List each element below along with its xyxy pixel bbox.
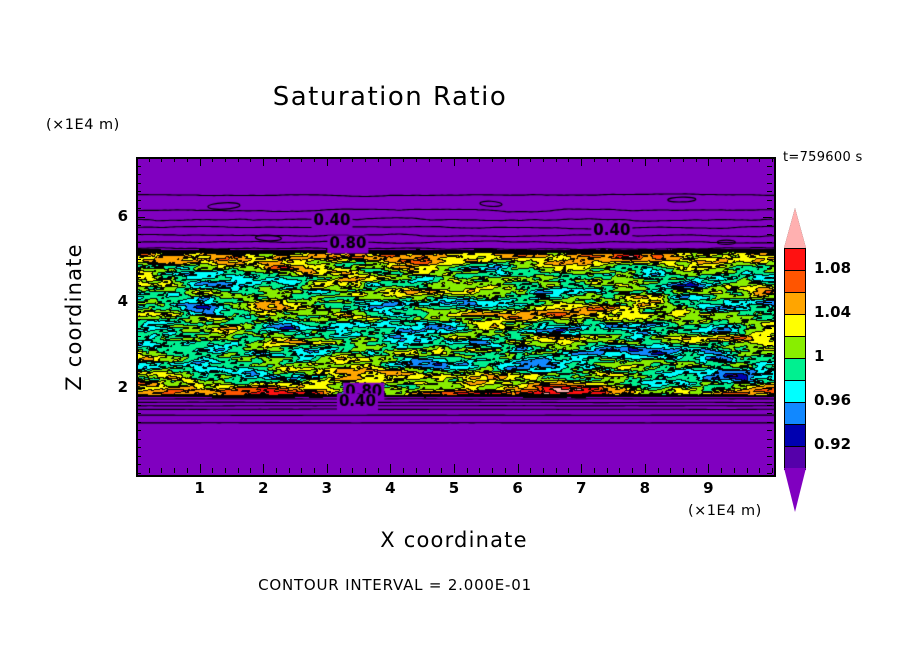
y-tick-mark xyxy=(136,439,141,440)
y-tick-label: 4 xyxy=(108,292,128,310)
y-tick-mark xyxy=(136,371,141,372)
x-tick-mark xyxy=(619,468,620,473)
y-tick-mark xyxy=(136,405,141,406)
y-tick-mark xyxy=(136,473,141,474)
colorbar-band xyxy=(784,424,806,448)
x-tick-mark-top xyxy=(301,157,302,162)
x-tick-mark-top xyxy=(505,157,506,162)
x-tick-label: 6 xyxy=(503,479,533,497)
x-tick-mark xyxy=(314,468,315,473)
y-tick-mark xyxy=(136,328,141,329)
x-tick-mark-top xyxy=(581,157,582,166)
x-tick-mark-top xyxy=(645,157,646,166)
x-tick-mark xyxy=(200,464,201,473)
page-title: Saturation Ratio xyxy=(0,82,780,112)
timestamp-label: t=759600 s xyxy=(783,150,863,165)
x-tick-mark-top xyxy=(530,157,531,162)
x-tick-mark-top xyxy=(734,157,735,162)
y-tick-mark xyxy=(136,413,141,414)
x-tick-mark xyxy=(696,468,697,473)
x-tick-mark xyxy=(683,468,684,473)
y-tick-mark xyxy=(136,456,141,457)
y-tick-mark-right xyxy=(767,379,772,380)
y-tick-mark xyxy=(136,464,141,465)
x-tick-mark-top xyxy=(683,157,684,162)
x-tick-mark-top xyxy=(161,157,162,162)
y-tick-mark-right xyxy=(767,174,772,175)
y-tick-mark-right xyxy=(767,371,772,372)
x-tick-mark xyxy=(365,468,366,473)
x-tick-mark xyxy=(263,464,264,473)
y-tick-mark xyxy=(136,388,145,389)
x-tick-mark-top xyxy=(747,157,748,162)
x-tick-mark-top xyxy=(378,157,379,162)
x-tick-mark xyxy=(759,468,760,473)
x-tick-mark xyxy=(454,464,455,473)
x-tick-mark xyxy=(581,464,582,473)
x-tick-mark-top xyxy=(200,157,201,166)
x-tick-mark xyxy=(543,468,544,473)
y-tick-mark xyxy=(136,208,141,209)
x-tick-mark xyxy=(174,468,175,473)
y-tick-mark xyxy=(136,422,141,423)
colorbar-tick-label: 1.08 xyxy=(814,259,851,277)
x-tick-mark xyxy=(378,468,379,473)
x-tick-mark-top xyxy=(174,157,175,162)
y-tick-mark-right xyxy=(767,294,772,295)
y-axis-title: Z coordinate xyxy=(62,217,86,417)
y-tick-mark-right xyxy=(767,234,772,235)
y-tick-mark-right xyxy=(767,353,772,354)
colorbar xyxy=(784,248,806,468)
x-tick-mark xyxy=(734,468,735,473)
colorbar-band xyxy=(784,314,806,338)
y-tick-mark-right xyxy=(767,242,772,243)
x-tick-label: 7 xyxy=(566,479,596,497)
y-tick-mark-right xyxy=(767,208,772,209)
x-tick-mark-top xyxy=(352,157,353,162)
y-tick-mark-right xyxy=(767,277,772,278)
y-tick-mark xyxy=(136,191,141,192)
x-tick-mark xyxy=(518,464,519,473)
y-tick-mark-right xyxy=(763,302,772,303)
colorbar-band xyxy=(784,380,806,404)
y-tick-mark xyxy=(136,251,141,252)
y-tick-mark-right xyxy=(767,251,772,252)
y-tick-mark-right xyxy=(767,422,772,423)
colorbar-tick-label: 1 xyxy=(814,347,824,365)
y-tick-mark xyxy=(136,183,141,184)
y-tick-mark xyxy=(136,302,145,303)
x-tick-mark-top xyxy=(454,157,455,166)
x-tick-mark xyxy=(530,468,531,473)
x-tick-mark-top xyxy=(607,157,608,162)
x-tick-mark xyxy=(594,468,595,473)
x-tick-mark xyxy=(250,468,251,473)
y-tick-mark-right xyxy=(767,413,772,414)
y-tick-mark-right xyxy=(767,328,772,329)
x-tick-mark-top xyxy=(568,157,569,162)
x-tick-mark-top xyxy=(492,157,493,162)
y-tick-mark xyxy=(136,200,141,201)
x-tick-label: 1 xyxy=(185,479,215,497)
y-tick-mark-right xyxy=(767,336,772,337)
x-tick-mark-top xyxy=(721,157,722,162)
x-tick-label: 9 xyxy=(693,479,723,497)
y-tick-mark xyxy=(136,157,141,158)
y-tick-mark xyxy=(136,319,141,320)
x-tick-mark xyxy=(276,468,277,473)
x-tick-mark-top xyxy=(340,157,341,162)
y-tick-mark-right xyxy=(767,191,772,192)
y-tick-mark xyxy=(136,242,141,243)
contour-field-canvas xyxy=(138,159,774,475)
y-tick-mark-right xyxy=(767,259,772,260)
x-tick-mark xyxy=(429,468,430,473)
y-tick-mark-right xyxy=(767,311,772,312)
y-tick-mark xyxy=(136,345,141,346)
x-tick-label: 4 xyxy=(375,479,405,497)
y-axis-units-label: (×1E4 m) xyxy=(46,117,120,133)
x-tick-mark xyxy=(390,464,391,473)
x-tick-mark xyxy=(149,468,150,473)
x-tick-mark-top xyxy=(276,157,277,162)
y-tick-mark-right xyxy=(767,456,772,457)
colorbar-band xyxy=(784,248,806,272)
x-tick-mark xyxy=(632,468,633,473)
y-tick-mark xyxy=(136,294,141,295)
x-tick-mark xyxy=(352,468,353,473)
x-tick-mark-top xyxy=(518,157,519,166)
x-tick-mark-top xyxy=(390,157,391,166)
x-tick-mark-top xyxy=(238,157,239,162)
y-tick-mark-right xyxy=(767,362,772,363)
x-tick-mark-top xyxy=(225,157,226,162)
colorbar-tick-label: 1.04 xyxy=(814,303,851,321)
x-tick-mark xyxy=(670,468,671,473)
x-tick-mark-top xyxy=(263,157,264,166)
colorbar-tick-label: 0.96 xyxy=(814,391,851,409)
y-tick-mark-right xyxy=(767,285,772,286)
x-axis-title: X coordinate xyxy=(136,528,772,552)
x-axis-units-label: (×1E4 m) xyxy=(688,503,762,519)
colorbar-over-arrow-icon xyxy=(784,208,806,248)
y-tick-mark xyxy=(136,268,141,269)
colorbar-band xyxy=(784,270,806,294)
y-tick-mark xyxy=(136,259,141,260)
y-tick-mark-right xyxy=(767,430,772,431)
x-tick-mark-top xyxy=(314,157,315,162)
x-tick-mark-top xyxy=(772,157,773,162)
x-tick-mark xyxy=(327,464,328,473)
colorbar-band xyxy=(784,446,806,470)
x-tick-mark-top xyxy=(149,157,150,162)
y-tick-mark-right xyxy=(767,396,772,397)
x-tick-mark xyxy=(772,468,773,473)
y-tick-mark xyxy=(136,285,141,286)
contour-interval-caption: CONTOUR INTERVAL = 2.000E-01 xyxy=(0,576,790,594)
y-tick-mark xyxy=(136,353,141,354)
x-tick-label: 5 xyxy=(439,479,469,497)
x-tick-mark xyxy=(721,468,722,473)
x-tick-mark xyxy=(607,468,608,473)
x-tick-mark xyxy=(301,468,302,473)
x-tick-mark xyxy=(238,468,239,473)
y-tick-mark-right xyxy=(767,157,772,158)
x-tick-mark xyxy=(556,468,557,473)
x-tick-mark xyxy=(492,468,493,473)
colorbar-band xyxy=(784,402,806,426)
x-tick-mark-top xyxy=(543,157,544,162)
y-tick-mark xyxy=(136,166,141,167)
x-tick-mark-top xyxy=(594,157,595,162)
x-tick-mark xyxy=(340,468,341,473)
y-tick-mark-right xyxy=(767,447,772,448)
x-tick-mark xyxy=(505,468,506,473)
x-tick-mark-top xyxy=(556,157,557,162)
x-tick-mark-top xyxy=(327,157,328,166)
x-tick-mark-top xyxy=(632,157,633,162)
y-tick-mark xyxy=(136,277,141,278)
x-tick-mark xyxy=(747,468,748,473)
x-tick-mark-top xyxy=(467,157,468,162)
y-tick-label: 2 xyxy=(108,378,128,396)
x-tick-mark-top xyxy=(619,157,620,162)
x-tick-mark xyxy=(187,468,188,473)
x-tick-mark xyxy=(645,464,646,473)
y-tick-mark xyxy=(136,379,141,380)
x-tick-label: 8 xyxy=(630,479,660,497)
x-tick-mark-top xyxy=(187,157,188,162)
x-tick-mark-top xyxy=(289,157,290,162)
y-tick-mark xyxy=(136,362,141,363)
contour-plot-area xyxy=(136,157,776,477)
y-tick-mark-right xyxy=(763,217,772,218)
x-tick-mark-top xyxy=(670,157,671,162)
x-tick-mark-top xyxy=(441,157,442,162)
x-tick-mark-top xyxy=(696,157,697,162)
x-tick-mark-top xyxy=(429,157,430,162)
colorbar-band xyxy=(784,336,806,360)
y-tick-mark-right xyxy=(767,166,772,167)
x-tick-mark-top xyxy=(708,157,709,166)
x-tick-mark xyxy=(289,468,290,473)
x-tick-mark xyxy=(708,464,709,473)
x-tick-mark-top xyxy=(212,157,213,162)
colorbar-band xyxy=(784,358,806,382)
y-tick-mark-right xyxy=(767,473,772,474)
x-tick-mark-top xyxy=(416,157,417,162)
x-tick-mark xyxy=(161,468,162,473)
y-tick-mark-right xyxy=(767,464,772,465)
figure-root: Saturation Ratio (×1E4 m) (×1E4 m) t=759… xyxy=(0,0,904,654)
x-tick-label: 3 xyxy=(312,479,342,497)
x-tick-label: 2 xyxy=(248,479,278,497)
y-tick-mark-right xyxy=(767,200,772,201)
y-tick-mark xyxy=(136,396,141,397)
x-tick-mark xyxy=(568,468,569,473)
y-tick-mark-right xyxy=(767,183,772,184)
y-tick-mark xyxy=(136,174,141,175)
y-tick-mark xyxy=(136,430,141,431)
x-tick-mark-top xyxy=(403,157,404,162)
x-tick-mark-top xyxy=(658,157,659,162)
y-tick-mark-right xyxy=(767,225,772,226)
y-tick-mark xyxy=(136,234,141,235)
x-tick-mark xyxy=(416,468,417,473)
x-tick-mark xyxy=(441,468,442,473)
x-tick-mark xyxy=(212,468,213,473)
y-tick-mark-right xyxy=(767,345,772,346)
y-tick-mark xyxy=(136,225,141,226)
y-tick-mark-right xyxy=(767,268,772,269)
y-tick-mark-right xyxy=(767,439,772,440)
y-tick-label: 6 xyxy=(108,207,128,225)
y-tick-mark-right xyxy=(767,319,772,320)
x-tick-mark-top xyxy=(250,157,251,162)
y-tick-mark xyxy=(136,217,145,218)
x-tick-mark-top xyxy=(479,157,480,162)
y-tick-mark-right xyxy=(763,388,772,389)
y-tick-mark xyxy=(136,447,141,448)
x-tick-mark-top xyxy=(759,157,760,162)
colorbar-under-arrow-icon xyxy=(784,468,806,512)
x-tick-mark xyxy=(467,468,468,473)
y-tick-mark-right xyxy=(767,405,772,406)
x-tick-mark xyxy=(225,468,226,473)
y-tick-mark xyxy=(136,311,141,312)
x-tick-mark xyxy=(658,468,659,473)
colorbar-tick-label: 0.92 xyxy=(814,435,851,453)
colorbar-band xyxy=(784,292,806,316)
y-tick-mark xyxy=(136,336,141,337)
x-tick-mark xyxy=(403,468,404,473)
x-tick-mark-top xyxy=(365,157,366,162)
x-tick-mark xyxy=(479,468,480,473)
